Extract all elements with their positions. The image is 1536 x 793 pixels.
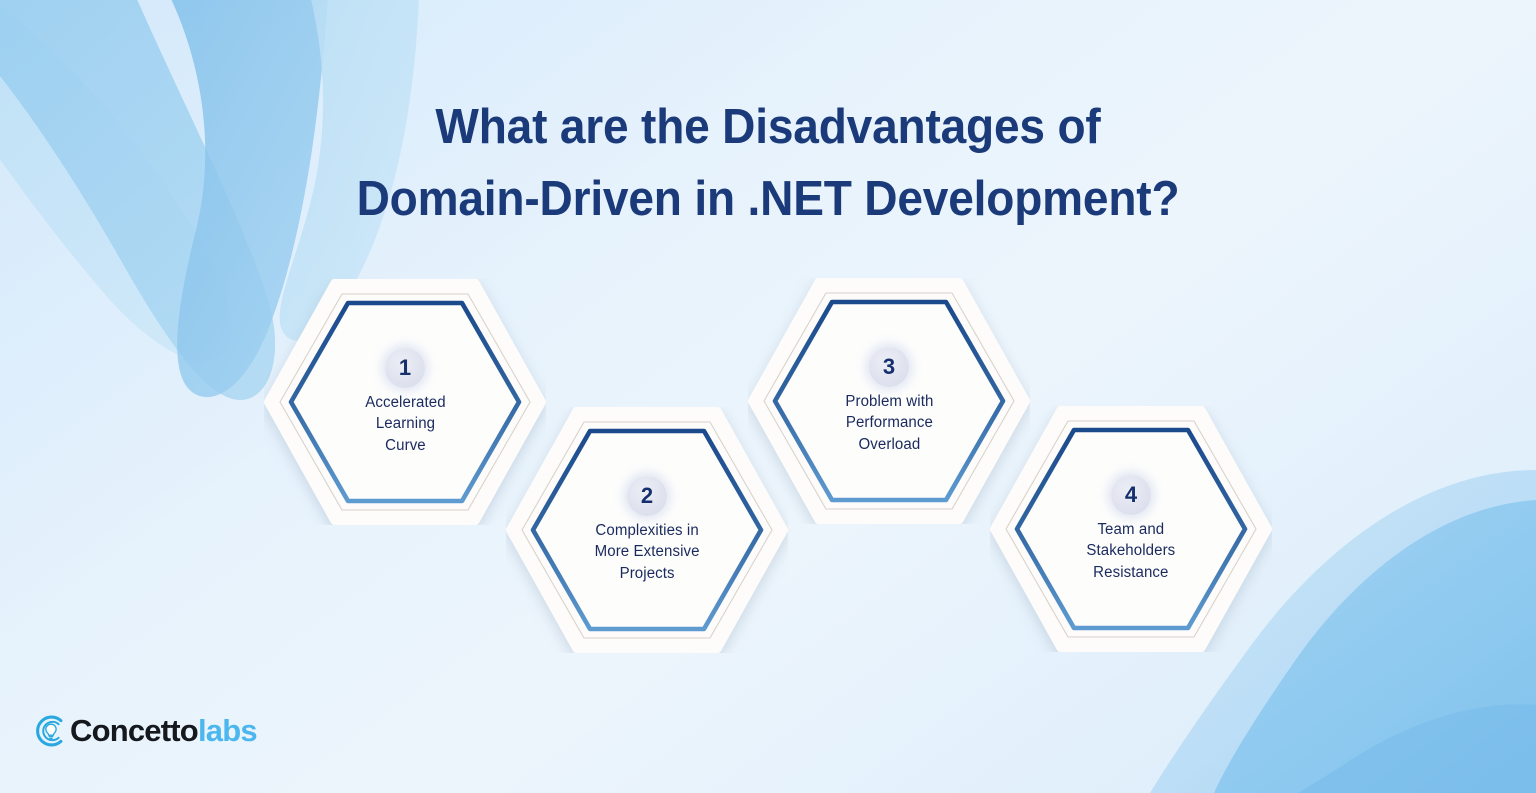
hexagon-label-4: Team and Stakeholders Resistance — [1087, 519, 1176, 584]
hexagon-number-badge-3: 3 — [869, 347, 909, 387]
logo-word-concetto: Concetto — [70, 713, 198, 748]
hexagon-label-3: Problem with Performance Overload — [845, 391, 933, 456]
company-logo[interactable]: Concettolabs — [33, 713, 257, 749]
logo-wordmark: Concettolabs — [70, 713, 257, 749]
hexagon-label-1: Accelerated Learning Curve — [365, 392, 445, 457]
hexagon-label-3-line-2: Performance — [845, 412, 933, 434]
hexagon-card-2[interactable]: 2 Complexities in More Extensive Project… — [506, 407, 788, 653]
hexagon-label-1-line-3: Curve — [365, 435, 445, 457]
hexagon-card-1[interactable]: 1 Accelerated Learning Curve — [264, 279, 546, 525]
hexagon-card-3[interactable]: 3 Problem with Performance Overload — [748, 278, 1030, 524]
page-title: What are the Disadvantages of Domain-Dri… — [46, 91, 1490, 235]
hexagon-label-4-line-3: Resistance — [1087, 562, 1176, 584]
hexagon-label-2: Complexities in More Extensive Projects — [594, 520, 699, 585]
hexagon-label-1-line-1: Accelerated — [365, 392, 445, 414]
hexagon-label-4-line-1: Team and — [1087, 519, 1176, 541]
hexagon-label-3-line-3: Overload — [845, 434, 933, 456]
hexagon-label-3-line-1: Problem with — [845, 391, 933, 413]
lightbulb-in-circle-icon — [33, 713, 69, 749]
page-title-line-2: Domain-Driven in .NET Development? — [46, 163, 1490, 235]
hexagon-label-2-line-2: More Extensive — [594, 541, 699, 563]
hexagon-label-1-line-2: Learning — [365, 413, 445, 435]
hexagon-number-badge-4: 4 — [1111, 475, 1151, 515]
hexagon-number-badge-1: 1 — [385, 348, 425, 388]
hexagon-card-4[interactable]: 4 Team and Stakeholders Resistance — [990, 406, 1272, 652]
hexagon-label-4-line-2: Stakeholders — [1087, 540, 1176, 562]
hexagon-label-2-line-1: Complexities in — [594, 520, 699, 542]
page-title-line-1: What are the Disadvantages of — [46, 91, 1490, 163]
logo-word-labs: labs — [198, 713, 257, 748]
hexagon-label-2-line-3: Projects — [594, 563, 699, 585]
hexagon-number-badge-2: 2 — [627, 476, 667, 516]
